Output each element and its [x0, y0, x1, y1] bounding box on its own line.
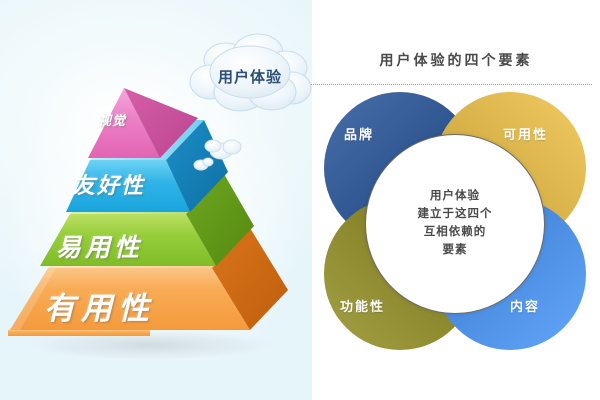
venn-center-text: 用户体验 建立于这四个 互相依赖的 要素: [418, 188, 493, 259]
venn-title-divider: [311, 84, 592, 85]
venn-label-content: 内容: [510, 296, 540, 315]
venn-label-brand: 品牌: [344, 124, 374, 143]
thought-bubble-icon: [0, 0, 312, 400]
venn-label-functionality: 功能性: [340, 296, 385, 315]
venn-diagram: 用户体验 建立于这四个 互相依赖的 要素 品牌 可用性 功能性 内容: [318, 88, 590, 352]
infographic-canvas: 视觉 友好性 易用性 有用性: [0, 0, 600, 400]
pyramid-panel: 视觉 友好性 易用性 有用性: [0, 0, 312, 400]
venn-center-circle: 用户体验 建立于这四个 互相依赖的 要素: [365, 134, 545, 314]
venn-label-usability: 可用性: [503, 124, 548, 143]
venn-title: 用户体验的四个要素: [312, 50, 600, 70]
